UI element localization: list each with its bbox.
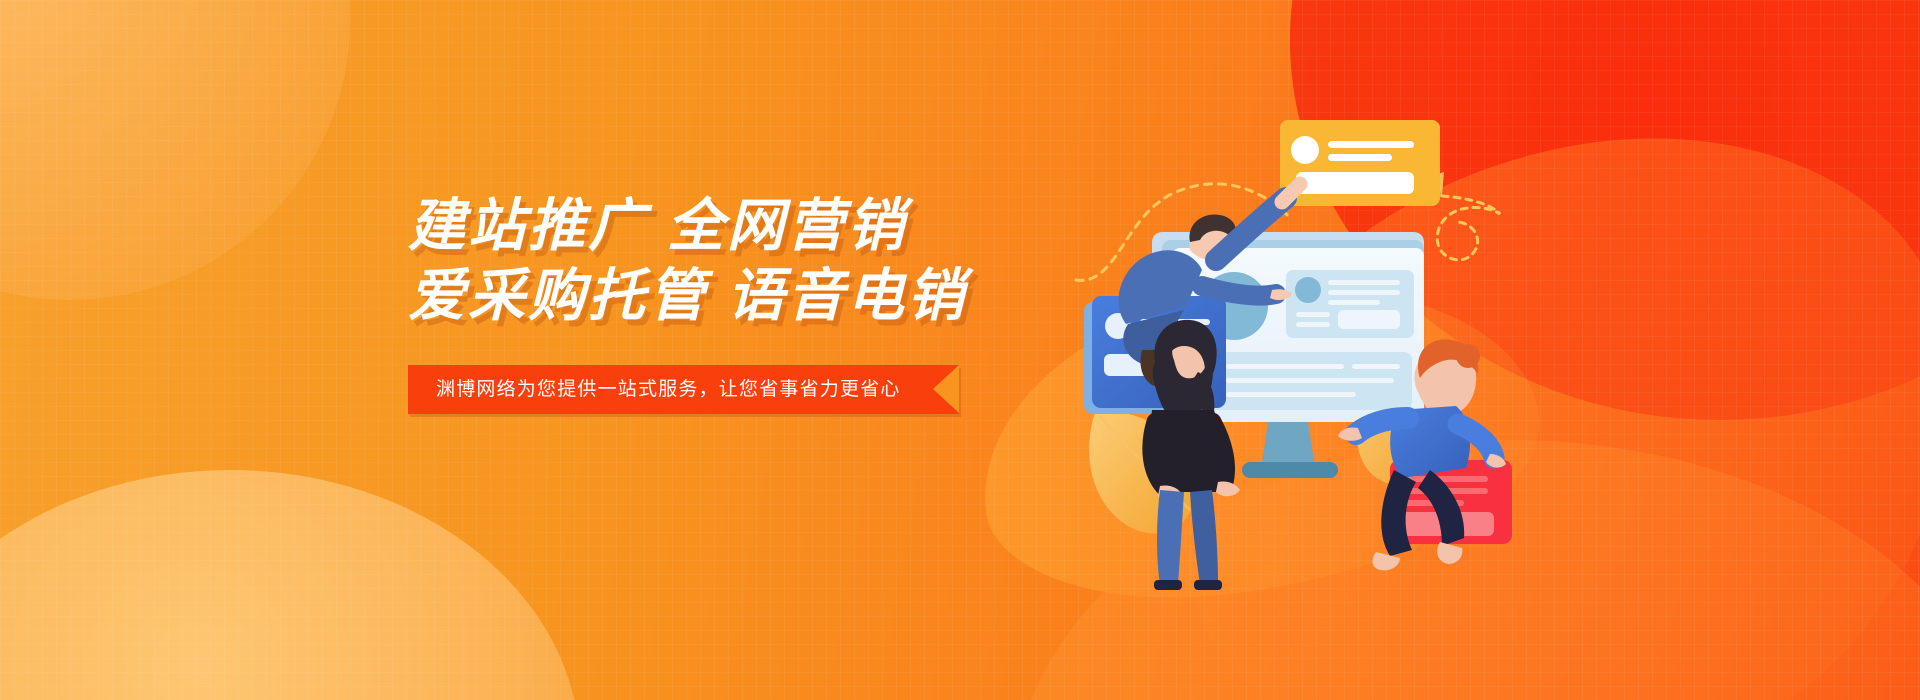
team-collaboration-illustration — [1090, 110, 1510, 590]
yellow-notification-card — [1280, 120, 1440, 206]
subtitle-ribbon: 渊博网络为您提供一站式服务，让您省事省力更省心 — [408, 365, 959, 414]
banner-copy: 建站推广 全网营销 爱采购托管 语音电销 渊博网络为您提供一站式服务，让您省事省… — [408, 196, 1048, 414]
hero-banner: 建站推广 全网营销 爱采购托管 语音电销 渊博网络为您提供一站式服务，让您省事省… — [0, 0, 1920, 700]
paper-airplane-dashed-loop — [1437, 196, 1500, 260]
headline-line-2: 爱采购托管 语音电销 — [408, 266, 1048, 326]
headline-line-1: 建站推广 全网营销 — [408, 196, 1048, 256]
